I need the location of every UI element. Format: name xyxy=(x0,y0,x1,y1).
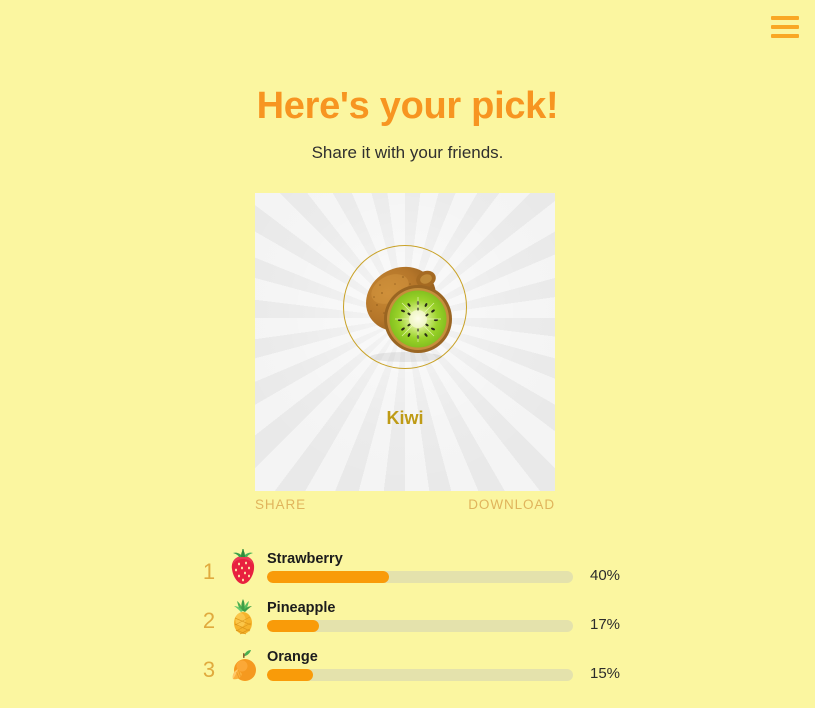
rank-label: Strawberry xyxy=(267,551,343,567)
rank-percentage: 15% xyxy=(590,665,650,682)
share-button[interactable]: SHARE xyxy=(255,497,306,512)
ranking-list: 1 Strawberry 40% xyxy=(190,545,640,692)
hamburger-bar-2 xyxy=(771,25,799,29)
strawberry-icon xyxy=(228,549,258,587)
rank-bar-track xyxy=(267,620,573,632)
hamburger-bar-1 xyxy=(771,16,799,20)
rank-number: 3 xyxy=(198,659,220,681)
result-fruit-label: Kiwi xyxy=(255,408,555,429)
rank-percentage: 40% xyxy=(590,567,650,584)
ranking-row[interactable]: 2 xyxy=(190,594,640,643)
download-button[interactable]: DOWNLOAD xyxy=(468,497,555,512)
rank-number: 1 xyxy=(198,561,220,583)
rank-label: Orange xyxy=(267,649,318,665)
page-title: Here's your pick! xyxy=(0,85,815,128)
kiwi-fruit-icon xyxy=(346,251,464,363)
result-card-canvas: Kiwi xyxy=(255,193,555,491)
ranking-row[interactable]: 3 Orange 15% xyxy=(190,643,640,692)
result-card: Kiwi xyxy=(255,193,555,491)
page-subtitle: Share it with your friends. xyxy=(0,143,815,163)
hamburger-bar-3 xyxy=(771,34,799,38)
rank-bar-fill xyxy=(267,620,319,632)
orange-icon xyxy=(228,647,258,685)
hamburger-menu-icon[interactable] xyxy=(771,14,799,40)
rank-bar-track xyxy=(267,669,573,681)
rank-label: Pineapple xyxy=(267,600,336,616)
pineapple-icon xyxy=(228,598,258,636)
ranking-row[interactable]: 1 Strawberry 40% xyxy=(190,545,640,594)
rank-percentage: 17% xyxy=(590,616,650,633)
rank-number: 2 xyxy=(198,610,220,632)
top-bar xyxy=(0,0,815,56)
rank-bar-fill xyxy=(267,669,313,681)
rank-bar-track xyxy=(267,571,573,583)
rank-bar-fill xyxy=(267,571,389,583)
card-actions: SHARE DOWNLOAD xyxy=(255,497,555,512)
